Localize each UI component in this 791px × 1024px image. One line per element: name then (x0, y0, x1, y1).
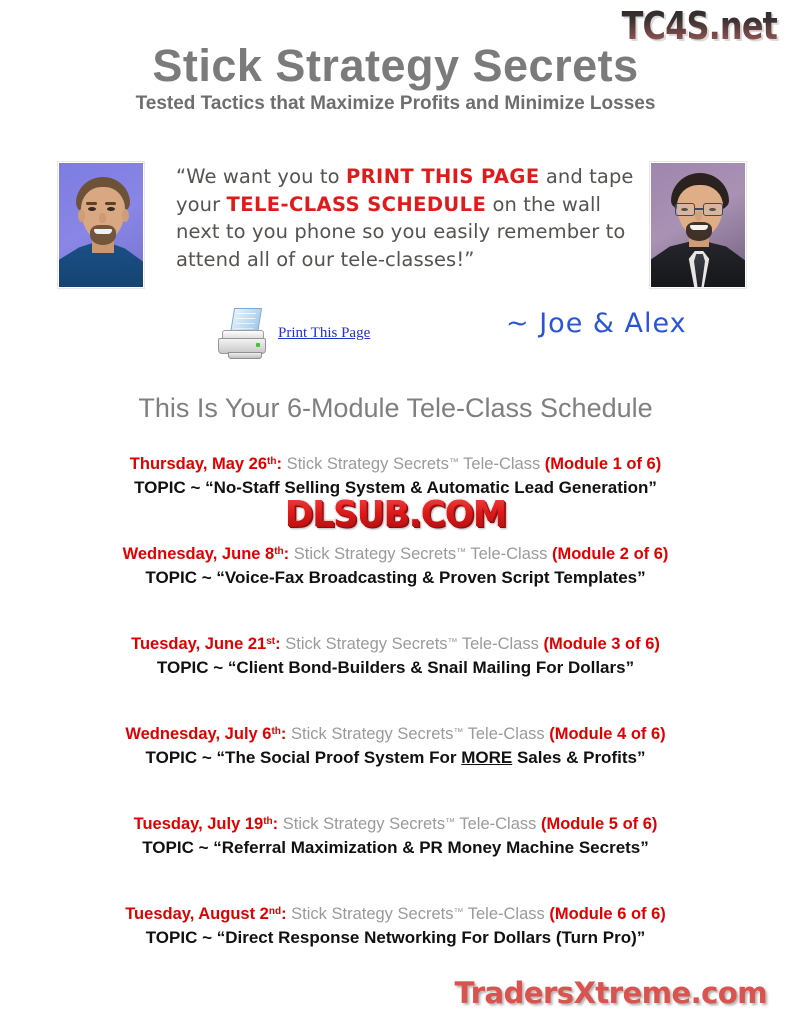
date-ordinal-suffix: th (271, 726, 280, 737)
lens-left (675, 203, 695, 216)
schedule-entry-class: Stick Strategy Secrets™ Tele-Class (282, 455, 545, 473)
quote-part-1: “We want you to (176, 165, 346, 188)
schedule-entry-topic: TOPIC ~ “Client Bond-Builders & Snail Ma… (0, 657, 791, 679)
eyebrow-left (86, 202, 97, 205)
trademark-symbol: ™ (448, 637, 458, 648)
quote-highlight-tele-class-schedule: TELE-CLASS SCHEDULE (227, 193, 487, 216)
eye-left (88, 207, 96, 211)
eye-right (107, 207, 115, 211)
schedule-entry-header: Wednesday, June 8th: Stick Strategy Secr… (0, 542, 791, 564)
schedule-entry-class: Stick Strategy Secrets™ Tele-Class (289, 545, 552, 563)
signature: ~ Joe & Alex (506, 308, 687, 339)
schedule-entry-module: (Module 6 of 6) (549, 905, 665, 923)
schedule-entry-module: (Module 3 of 6) (543, 635, 659, 653)
schedule-entry-class: Stick Strategy Secrets™ Tele-Class (281, 635, 544, 653)
print-row: Print This Page ~ Joe & Alex (216, 306, 636, 362)
schedule-entry-date: Wednesday, July 6th: (125, 725, 286, 743)
schedule-entry-class: Stick Strategy Secrets™ Tele-Class (287, 905, 550, 923)
schedule-entry: Tuesday, July 19th: Stick Strategy Secre… (0, 812, 791, 902)
schedule-entry-date: Tuesday, July 19th: (134, 815, 279, 833)
topic-emphasis: MORE (461, 748, 512, 767)
printer-output-tray (228, 352, 262, 359)
schedule-entry-topic: TOPIC ~ “No-Staff Selling System & Autom… (0, 477, 791, 499)
schedule-entry: Thursday, May 26th: Stick Strategy Secre… (0, 452, 791, 542)
schedule-entry-header: Wednesday, July 6th: Stick Strategy Secr… (0, 722, 791, 744)
trademark-symbol: ™ (453, 727, 463, 738)
schedule-entry-header: Tuesday, June 21st: Stick Strategy Secre… (0, 632, 791, 654)
schedule-entry-date: Tuesday, August 2nd: (125, 905, 286, 923)
schedule-entry-class: Stick Strategy Secrets™ Tele-Class (286, 725, 549, 743)
schedule-entry-date: Tuesday, June 21st: (131, 635, 281, 653)
tradersxtreme-logo: TradersXtreme.com (455, 976, 767, 1010)
date-ordinal-suffix: st (266, 636, 275, 647)
schedule-entry-module: (Module 4 of 6) (549, 725, 665, 743)
glasses-bridge (695, 208, 704, 210)
schedule-entry: Wednesday, June 8th: Stick Strategy Secr… (0, 542, 791, 632)
eyebrow-right (105, 202, 116, 205)
trademark-symbol: ™ (449, 457, 459, 468)
goatee (90, 225, 116, 245)
schedule-entry-header: Thursday, May 26th: Stick Strategy Secre… (0, 452, 791, 474)
print-this-page-link[interactable]: Print This Page (278, 325, 370, 342)
trademark-symbol: ™ (453, 907, 463, 918)
joe-photo (58, 162, 144, 288)
ear-right (122, 209, 129, 222)
date-ordinal-suffix: th (267, 456, 276, 467)
mouth (94, 229, 112, 234)
schedule-heading: This Is Your 6-Module Tele-Class Schedul… (0, 393, 791, 424)
schedule-entry-module: (Module 1 of 6) (545, 455, 661, 473)
trademark-symbol: ™ (445, 817, 455, 828)
schedule-entry-topic: TOPIC ~ “Direct Response Networking For … (0, 927, 791, 949)
trademark-symbol: ™ (456, 547, 466, 558)
date-ordinal-suffix: th (274, 546, 283, 557)
schedule-entry: Wednesday, July 6th: Stick Strategy Secr… (0, 722, 791, 812)
date-ordinal-suffix: th (263, 816, 272, 827)
schedule-entry-header: Tuesday, July 19th: Stick Strategy Secre… (0, 812, 791, 834)
printer-icon[interactable] (216, 308, 270, 360)
schedule-entry-header: Tuesday, August 2nd: Stick Strategy Secr… (0, 902, 791, 924)
schedule-entry: Tuesday, June 21st: Stick Strategy Secre… (0, 632, 791, 722)
page-subtitle: Tested Tactics that Maximize Profits and… (0, 93, 791, 115)
schedule-entry-date: Wednesday, June 8th: (123, 545, 290, 563)
schedule-entry-topic: TOPIC ~ “Referral Maximization & PR Mone… (0, 837, 791, 859)
schedule-list: Thursday, May 26th: Stick Strategy Secre… (0, 452, 791, 992)
mouth (690, 225, 708, 230)
schedule-entry-topic: TOPIC ~ “Voice-Fax Broadcasting & Proven… (0, 567, 791, 589)
alex-photo (650, 162, 746, 288)
ear-left (78, 209, 85, 222)
schedule-entry-topic: TOPIC ~ “The Social Proof System For MOR… (0, 747, 791, 769)
date-ordinal-suffix: nd (269, 906, 281, 917)
quote-highlight-print-this-page: PRINT THIS PAGE (346, 165, 540, 188)
status-led-icon (256, 343, 260, 347)
schedule-entry-module: (Module 2 of 6) (552, 545, 668, 563)
eyeglasses-icon (673, 203, 727, 216)
schedule-entry-class: Stick Strategy Secrets™ Tele-Class (278, 815, 541, 833)
schedule-entry-date: Thursday, May 26th: (130, 455, 282, 473)
testimonial-quote: “We want you to PRINT THIS PAGE and tape… (176, 163, 636, 274)
nose (99, 213, 106, 223)
schedule-entry-module: (Module 5 of 6) (541, 815, 657, 833)
lens-right (703, 203, 723, 216)
masthead: Stick Strategy Secrets Tested Tactics th… (0, 42, 791, 115)
page-title: Stick Strategy Secrets (0, 42, 791, 89)
